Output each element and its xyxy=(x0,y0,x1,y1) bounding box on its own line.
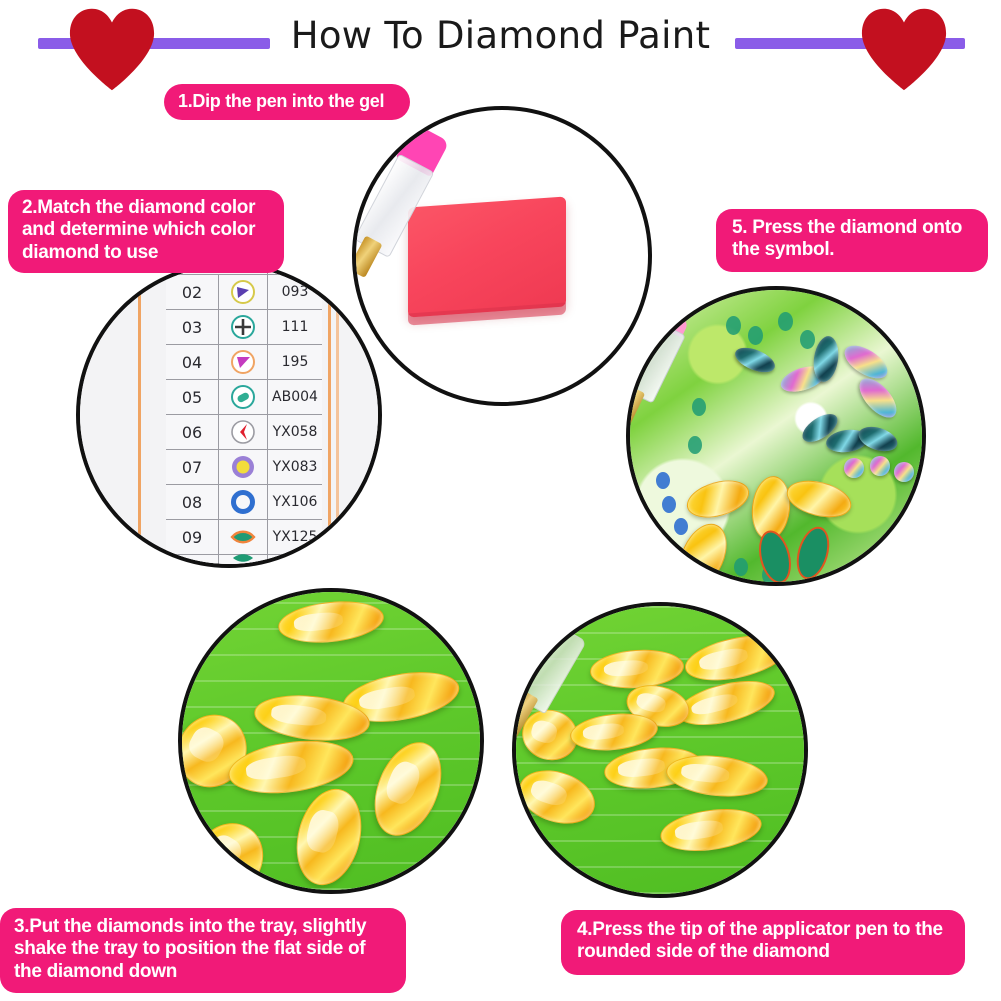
step-4-label: 4.Press the tip of the applicator pen to… xyxy=(561,910,965,975)
step-5-label: 5. Press the diamond onto the symbol. xyxy=(716,209,988,272)
step-3-label: 3.Put the diamonds into the tray, slight… xyxy=(0,908,406,993)
canvas-rhinestone xyxy=(894,462,914,482)
canvas-symbol xyxy=(778,312,793,331)
chart-number: 08 xyxy=(166,485,219,519)
page-title: How To Diamond Paint xyxy=(0,14,1001,57)
chart-code: 195 xyxy=(268,345,322,379)
step-3-photo xyxy=(178,588,484,894)
gel-pad xyxy=(408,196,566,317)
chart-symbol xyxy=(219,275,268,309)
canvas-symbol xyxy=(674,518,688,535)
canvas-rhinestone xyxy=(844,458,864,478)
pressing-diamond-onto-canvas-photo xyxy=(630,290,922,582)
diamonds-in-green-tray-photo xyxy=(182,592,480,890)
chart-symbol xyxy=(219,310,268,344)
chart-margin-line xyxy=(138,266,141,564)
table-row: 03 111 xyxy=(166,310,322,345)
chart-code: YX125 xyxy=(268,520,322,554)
color-chart-table: 028 02 093 03 xyxy=(166,262,322,568)
canvas-symbol xyxy=(656,472,670,489)
step-4-photo xyxy=(512,602,808,898)
table-row: 07 YX083 xyxy=(166,450,322,485)
pen-picking-up-diamond-photo xyxy=(516,606,804,894)
chart-symbol xyxy=(219,415,268,449)
chart-symbol xyxy=(219,520,268,554)
chart-margin-line xyxy=(328,266,331,564)
table-row: 08 YX106 xyxy=(166,485,322,520)
chart-symbol xyxy=(219,555,268,568)
chart-code: YX083 xyxy=(268,450,322,484)
chart-number: 07 xyxy=(166,450,219,484)
canvas-symbol xyxy=(748,326,763,345)
infographic-canvas: How To Diamond Paint xyxy=(0,0,1001,1001)
canvas-symbol xyxy=(800,330,815,349)
table-row: 02 093 xyxy=(166,275,322,310)
chart-number: 06 xyxy=(166,415,219,449)
canvas-symbol xyxy=(734,558,748,576)
triangle-icon xyxy=(230,279,256,305)
chart-code: AB004 xyxy=(268,380,322,414)
step-2-photo: 028 02 093 03 xyxy=(76,262,382,568)
color-chart-legend-photo: 028 02 093 03 xyxy=(80,266,378,564)
filled-dot-icon xyxy=(230,454,256,480)
chart-number: 05 xyxy=(166,380,219,414)
step-1-label: 1.Dip the pen into the gel xyxy=(164,84,410,120)
chart-number: 03 xyxy=(166,310,219,344)
table-row xyxy=(166,555,322,568)
triangle-down-icon xyxy=(230,349,256,375)
table-row: 06 YX058 xyxy=(166,415,322,450)
chart-code: YX106 xyxy=(268,485,322,519)
pen-dipping-in-gel-photo xyxy=(356,110,648,402)
chart-number: 04 xyxy=(166,345,219,379)
leaf-icon xyxy=(230,550,256,568)
chart-code: 093 xyxy=(268,275,322,309)
table-row: 04 195 xyxy=(166,345,322,380)
step-2-label: 2.Match the diamond color and determine … xyxy=(8,190,284,273)
chart-code: YX058 xyxy=(268,415,322,449)
chart-symbol xyxy=(219,345,268,379)
canvas-symbol xyxy=(692,398,706,416)
plus-icon xyxy=(230,314,256,340)
chart-number: 02 xyxy=(166,275,219,309)
chart-symbol xyxy=(219,450,268,484)
canvas-symbol xyxy=(662,496,676,513)
step-5-photo xyxy=(626,286,926,586)
step-1-photo xyxy=(352,106,652,406)
chart-symbol xyxy=(219,485,268,519)
chevron-left-icon xyxy=(230,419,256,445)
chart-number: 09 xyxy=(166,520,219,554)
canvas-rhinestone xyxy=(870,456,890,476)
ring-icon xyxy=(230,489,256,515)
table-row: 05 AB004 xyxy=(166,380,322,415)
canvas-symbol xyxy=(726,316,741,335)
canvas-symbol xyxy=(688,436,702,454)
chart-symbol xyxy=(219,380,268,414)
oval-bar-icon xyxy=(230,384,256,410)
chart-code: 111 xyxy=(268,310,322,344)
chart-margin-line xyxy=(336,266,339,564)
leaf-icon xyxy=(230,524,256,550)
